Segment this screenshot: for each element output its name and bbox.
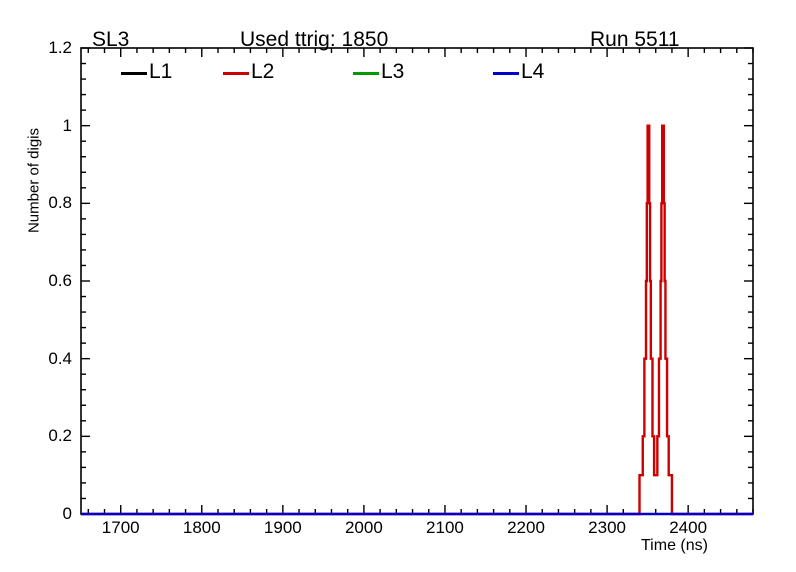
plot-frame <box>81 48 753 514</box>
legend-label-l2: L2 <box>251 58 274 86</box>
legend-swatch-l3 <box>353 72 379 75</box>
legend-label-l1: L1 <box>149 58 172 86</box>
series-legend: L1L2L3L4 <box>81 60 753 88</box>
series-line-l2 <box>81 126 753 514</box>
legend-swatch-l2 <box>223 72 249 75</box>
legend-swatch-l4 <box>493 72 519 75</box>
plot-canvas: SL3 Used ttrig: 1850 Run 5511 Number of … <box>0 0 796 572</box>
legend-label-l4: L4 <box>521 58 544 86</box>
legend-label-l3: L3 <box>381 58 404 86</box>
legend-swatch-l1 <box>121 72 147 75</box>
